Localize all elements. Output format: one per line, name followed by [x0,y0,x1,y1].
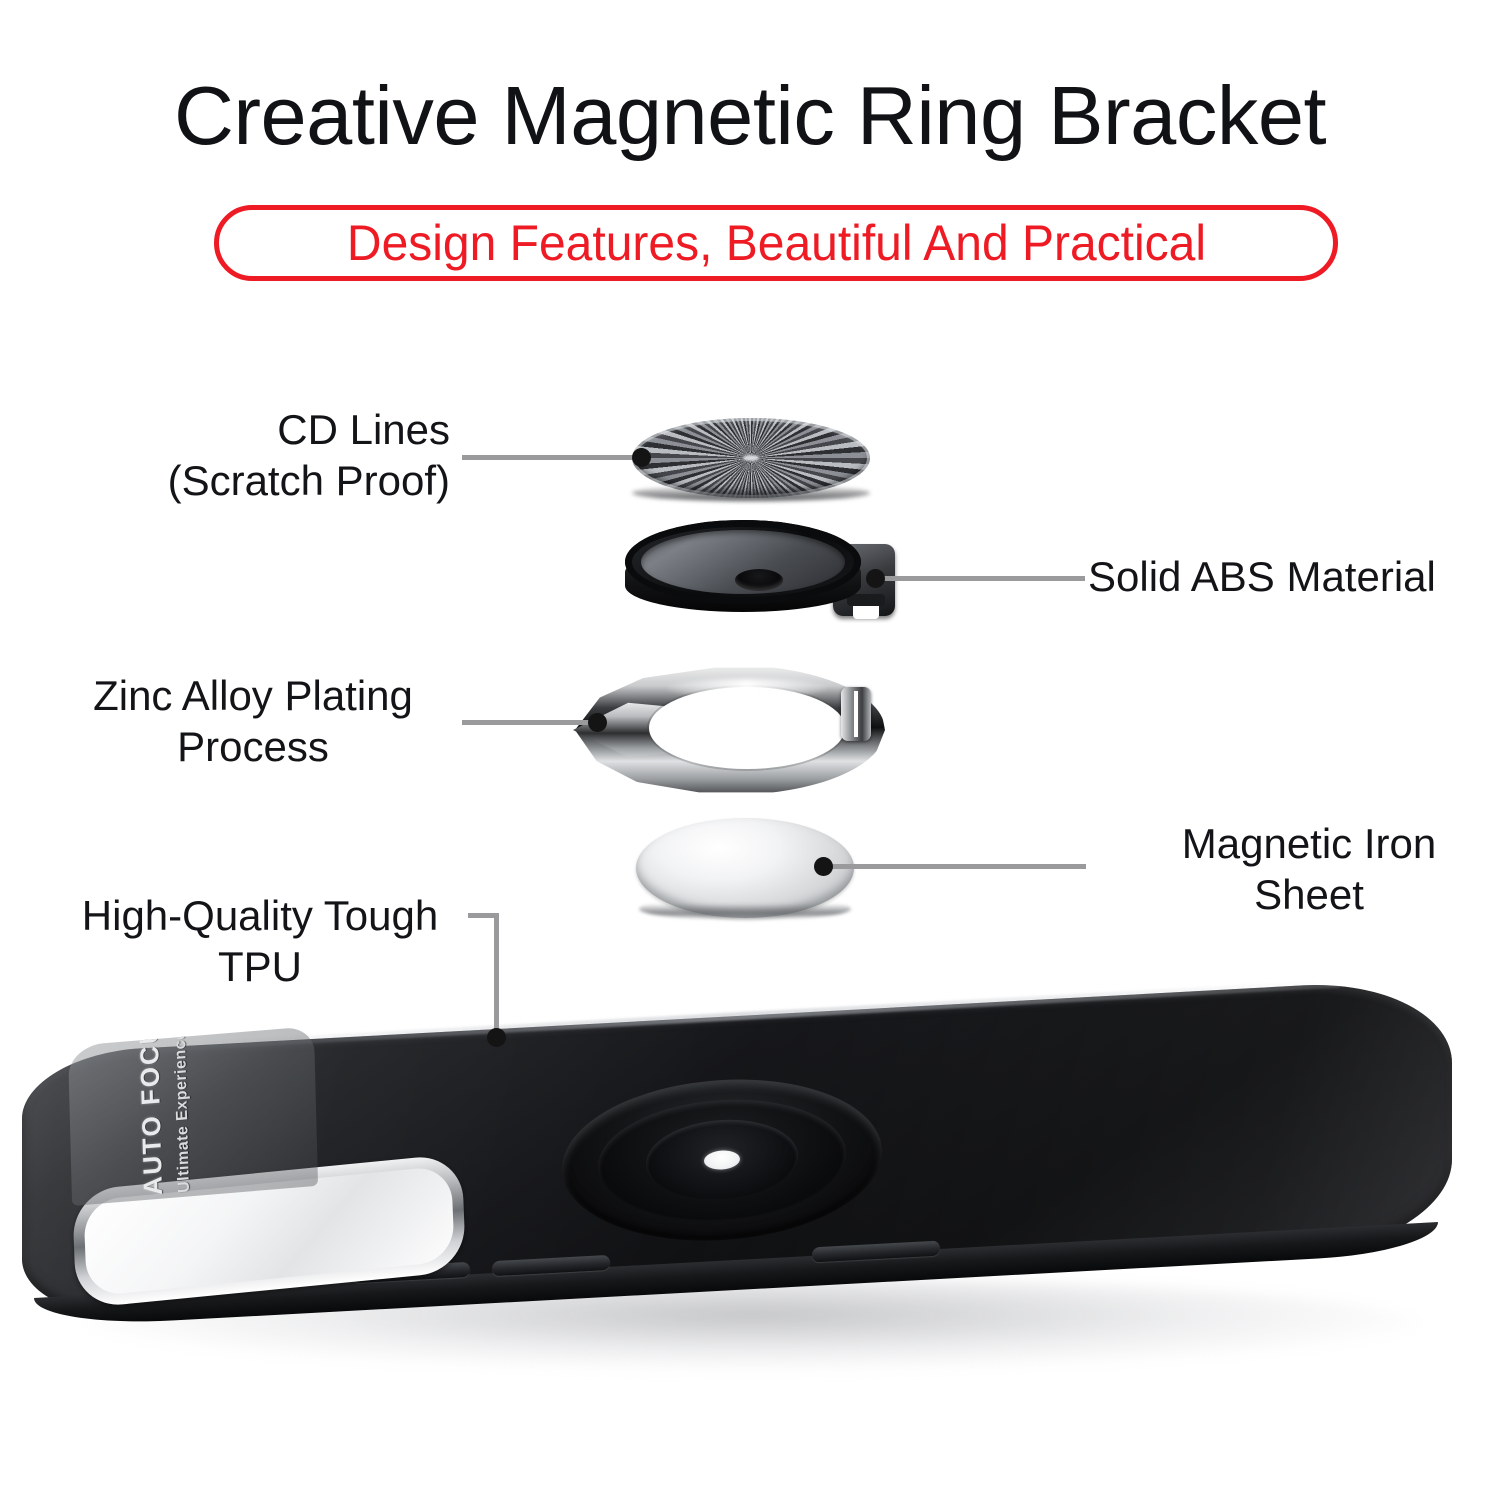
callout-cd-lines-label: CD Lines (Scratch Proof) [60,404,450,506]
leader-line-tpu-vertical [494,913,499,1037]
leader-line-cd-lines [462,455,644,460]
abs-housing-notch [853,599,879,619]
callout-zinc-alloy-line1: Zinc Alloy Plating [48,670,458,721]
leader-dot-zinc-alloy [588,713,607,732]
callout-magnetic-iron-label: Magnetic Iron Sheet [1128,818,1490,920]
callout-zinc-alloy-line2: Process [48,721,458,772]
subtitle-text: Design Features, Beautiful And Practical [346,215,1205,271]
subtitle-badge: Design Features, Beautiful And Practical [214,205,1338,281]
abs-housing-center-hole [735,569,783,591]
zinc-ring-hinge-slot [854,691,858,737]
ring-mount-recess [562,1071,882,1248]
zinc-ring-aperture [649,687,845,769]
callout-magnetic-iron-line1: Magnetic Iron [1128,818,1490,869]
case-tagline-text: Ultimate Experience [171,1026,194,1193]
cd-disc-hub [743,455,759,461]
infographic-canvas: Creative Magnetic Ring Bracket Design Fe… [0,0,1500,1500]
callout-cd-lines-line2: (Scratch Proof) [60,455,450,506]
callout-tpu-line2: TPU [60,941,460,992]
callout-tpu-line1: High-Quality Tough [60,890,460,941]
leader-line-zinc-alloy [462,720,600,725]
leader-dot-cd-lines [632,448,651,467]
callout-zinc-alloy-label: Zinc Alloy Plating Process [48,670,458,772]
callout-solid-abs-label: Solid ABS Material [1088,551,1500,602]
callout-solid-abs-line1: Solid ABS Material [1088,551,1500,602]
zinc-ring [575,665,885,795]
case-branding-plate: AUTO FOCUS Ultimate Experience [68,1026,318,1206]
leader-line-magnetic-iron [828,864,1086,869]
leader-dot-magnetic-iron [814,857,833,876]
callout-magnetic-iron-line2: Sheet [1128,869,1490,920]
cd-disc-shadow [632,485,870,501]
page-title: Creative Magnetic Ring Bracket [0,68,1500,164]
leader-dot-tpu [487,1028,506,1047]
cd-lines-disc [632,418,870,498]
magnetic-sheet-edge [639,898,851,920]
callout-tpu-label: High-Quality Tough TPU [60,890,460,992]
zinc-ring-highlight [667,679,827,697]
abs-housing [625,520,893,640]
leader-dot-solid-abs [866,569,885,588]
callout-cd-lines-line1: CD Lines [60,404,450,455]
case-brand-text: AUTO FOCUS [134,1034,169,1196]
phone-case: AUTO FOCUS Ultimate Experience [22,1010,1467,1340]
leader-line-solid-abs [880,576,1085,581]
